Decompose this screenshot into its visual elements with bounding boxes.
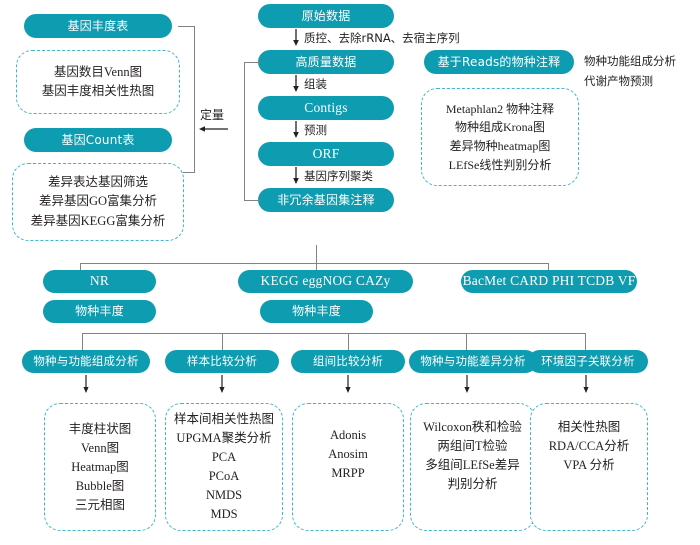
pipeline-step-label-3: 预测 xyxy=(304,122,327,138)
result-arrow-1 xyxy=(82,375,92,393)
box-line: PCA xyxy=(212,448,236,467)
box-line: Wilcoxon秩和检验 xyxy=(423,418,522,437)
box-line: 差异基因GO富集分析 xyxy=(39,192,157,211)
analysis-pill-sample-comparison: 样本比较分析 xyxy=(165,350,279,373)
result-arrow-3 xyxy=(344,375,354,393)
result-box-difference-analysis: Wilcoxon秩和检验 两组间T检验 多组间LEfSe差异 判别分析 xyxy=(410,403,535,531)
box-line: Venn图 xyxy=(81,439,119,458)
analysis-connector-stub-3 xyxy=(348,333,349,350)
result-arrow-2 xyxy=(218,375,228,393)
box-line: Bubble图 xyxy=(76,477,125,496)
analysis-pill-species-function-difference: 物种与功能差异分析 xyxy=(409,350,537,373)
box-line: 物种组成Krona图 xyxy=(455,118,545,137)
db-pill-bacmet-card-phi-tcdb-vf: BacMet CARD PHI TCDB VF xyxy=(461,270,637,293)
box-line: 三元相图 xyxy=(75,496,125,515)
pipeline-node-orf: ORF xyxy=(258,142,394,166)
result-box-sample-comparison: 样本间相关性热图 UPGMA聚类分析 PCA PCoA NMDS MDS xyxy=(165,403,283,531)
side-note-functional-composition: 物种功能组成分析 xyxy=(584,51,676,71)
quantify-label: 定量 xyxy=(200,106,224,123)
result-arrow-5 xyxy=(582,375,592,393)
result-arrow-4 xyxy=(463,375,473,393)
pipeline-node-high-quality-data: 高质量数据 xyxy=(258,50,394,74)
db-pill-kegg-eggnog-cazy: KEGG eggNOG CAZy xyxy=(238,270,413,293)
box-line: VPA 分析 xyxy=(563,456,614,475)
box-line: 基因丰度相关性热图 xyxy=(42,82,155,101)
pill-gene-count-table: 基因Count表 xyxy=(24,128,172,152)
analysis-pill-group-comparison: 组间比较分析 xyxy=(291,350,405,373)
box-line: 差异基因KEGG富集分析 xyxy=(31,212,166,231)
pill-gene-abundance-table: 基因丰度表 xyxy=(24,14,172,38)
db-pill-nr: NR xyxy=(43,270,156,293)
analysis-row-connector-horizontal xyxy=(82,333,585,334)
side-note-metabolite-prediction: 代谢产物预测 xyxy=(584,71,653,91)
box-line: 两组间T检验 xyxy=(437,437,507,456)
pipeline-step-label-4: 基因序列聚类 xyxy=(304,168,373,184)
box-line: Adonis xyxy=(330,426,366,445)
result-box-environmental-correlation: 相关性热图 RDA/CCA分析 VPA 分析 xyxy=(530,403,648,531)
box-line: RDA/CCA分析 xyxy=(549,437,630,456)
database-row-connector-horizontal xyxy=(80,263,548,264)
box-line: Metaphlan2 物种注释 xyxy=(446,100,554,119)
analysis-pill-species-function-composition: 物种与功能组成分析 xyxy=(22,350,150,373)
box-line: NMDS xyxy=(206,486,242,505)
analysis-connector-stub-5 xyxy=(585,333,586,350)
box-line: Anosim xyxy=(328,445,368,464)
pipeline-bracket-vertical xyxy=(244,62,245,200)
box-line: LEfSe线性判别分析 xyxy=(449,156,552,175)
abundance-pill-left: 物种丰度 xyxy=(43,300,156,323)
box-line: PCoA xyxy=(209,467,240,486)
pipeline-node-nonredundant-gene-set: 非冗余基因集注释 xyxy=(258,188,394,212)
result-box-group-comparison: Adonis Anosim MRPP xyxy=(292,403,404,531)
box-line: 样本间相关性热图 xyxy=(174,410,274,429)
analysis-connector-stub-4 xyxy=(466,333,467,350)
pipeline-arrow-3 xyxy=(292,121,302,138)
box-differential-gene-results: 差异表达基因筛选 差异基因GO富集分析 差异基因KEGG富集分析 xyxy=(12,163,184,241)
pipeline-arrow-4 xyxy=(292,167,302,184)
box-line: 丰度柱状图 xyxy=(69,420,132,439)
abundance-pill-right: 物种丰度 xyxy=(260,300,373,323)
box-reads-species-results: Metaphlan2 物种注释 物种组成Krona图 差异物种heatmap图 … xyxy=(421,88,579,186)
pipeline-arrow-1 xyxy=(292,29,302,46)
box-line: Heatmap图 xyxy=(71,458,129,477)
pipeline-bracket-top-stub xyxy=(244,62,260,63)
left-bracket-top-stub xyxy=(178,26,195,27)
pill-reads-based-species-annotation: 基于Reads的物种注释 xyxy=(424,50,574,74)
box-line: 多组间LEfSe差异 xyxy=(425,456,519,475)
flowchart-canvas: 原始数据 质控、去除rRNA、去宿主序列 高质量数据 组装 Contigs 预测… xyxy=(0,0,700,545)
box-line: 相关性热图 xyxy=(558,418,621,437)
analysis-pill-environmental-factor-correlation: 环境因子关联分析 xyxy=(528,350,648,373)
box-gene-abundance-results: 基因数目Venn图 基因丰度相关性热图 xyxy=(16,50,180,114)
pipeline-arrow-2 xyxy=(292,75,302,92)
pipeline-bracket-bottom-stub xyxy=(244,200,260,201)
pipeline-step-label-1: 质控、去除rRNA、去宿主序列 xyxy=(304,30,460,46)
pipeline-node-contigs: Contigs xyxy=(258,96,394,120)
quantify-arrow xyxy=(198,124,228,134)
analysis-connector-stub-2 xyxy=(222,333,223,350)
box-line: MDS xyxy=(210,505,237,524)
database-connector-feed xyxy=(316,245,317,264)
box-line: UPGMA聚类分析 xyxy=(176,429,271,448)
box-line: MRPP xyxy=(331,464,364,483)
pipeline-step-label-2: 组装 xyxy=(304,76,327,92)
analysis-connector-stub-1 xyxy=(82,333,83,350)
box-line: 判别分析 xyxy=(447,475,497,494)
pipeline-node-raw-data: 原始数据 xyxy=(258,4,394,28)
box-line: 差异表达基因筛选 xyxy=(48,173,148,192)
box-line: 基因数目Venn图 xyxy=(54,63,142,82)
left-bracket-vertical xyxy=(194,26,195,172)
result-box-composition: 丰度柱状图 Venn图 Heatmap图 Bubble图 三元相图 xyxy=(44,403,156,531)
box-line: 差异物种heatmap图 xyxy=(450,137,551,156)
